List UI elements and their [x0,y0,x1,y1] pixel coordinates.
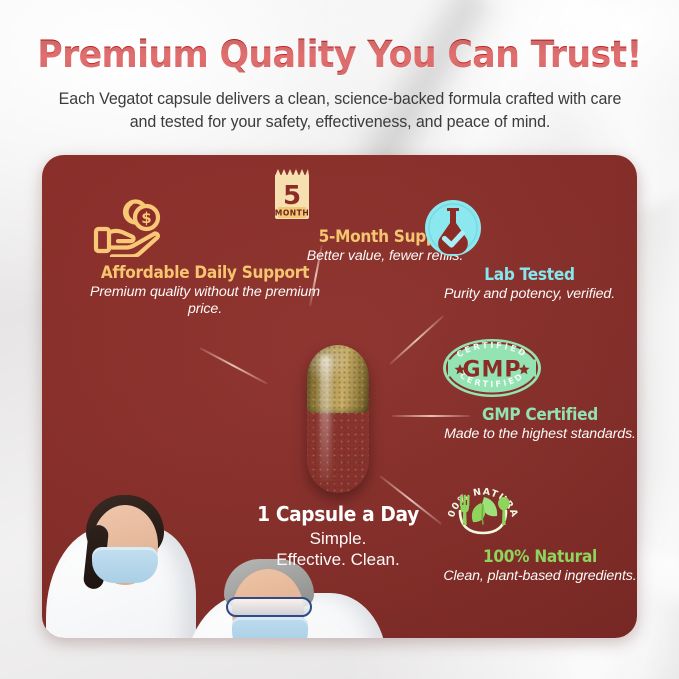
feature-description: Made to the highest standards. [440,426,637,443]
center-capsule-block: 1 Capsule a Day Simple. Effective. Clean… [238,345,438,570]
feature-100-natural: 100% NATURAL 100% Natural Clean, plant-b… [440,475,637,585]
flask-check-icon [422,197,637,259]
male-scientist-face-mask [232,617,308,638]
feature-heading: Lab Tested [430,265,630,284]
feature-card: $ Affordable Daily Support Premium quali… [42,155,637,638]
leaf-fork-spoon-icon: 100% NATURAL [440,475,637,541]
calendar-number: 5 [283,181,301,211]
feature-heading: 100% Natural [447,547,633,566]
capsule-powder-texture [307,345,369,493]
header: Premium Quality You Can Trust! Each Vega… [0,0,679,134]
feature-heading: GMP Certified [447,405,633,424]
center-heading: 1 Capsule a Day [245,502,431,526]
female-scientist-face-mask [92,547,158,583]
feature-description: Clean, plant-based ingredients. [440,568,637,585]
svg-text:$: $ [141,209,151,227]
center-line-2: Effective. Clean. [238,549,438,570]
calendar-label: MONTH [275,209,309,218]
feature-description: Premium quality without the premium pric… [90,284,320,319]
page-title: Premium Quality You Can Trust! [20,0,658,76]
feature-description: Purity and potency, verified. [422,286,637,303]
safety-goggles [226,597,312,617]
feature-gmp-certified: CERTIFIED CERTIFIED GMP GMP Certified Ma… [440,337,637,443]
page-subtitle: Each Vegatot capsule delivers a clean, s… [49,88,631,134]
capsule-icon [307,345,369,493]
gmp-badge-center-text: GMP [462,358,521,383]
feature-lab-tested: Lab Tested Purity and potency, verified. [422,197,637,303]
gmp-seal-icon: CERTIFIED CERTIFIED GMP [440,337,637,399]
feature-heading: Affordable Daily Support [98,263,312,282]
capsule-highlight [320,355,331,481]
center-line-1: Simple. [238,528,438,549]
capsule-shape [307,345,369,493]
infographic-root: Premium Quality You Can Trust! Each Vega… [0,0,679,679]
